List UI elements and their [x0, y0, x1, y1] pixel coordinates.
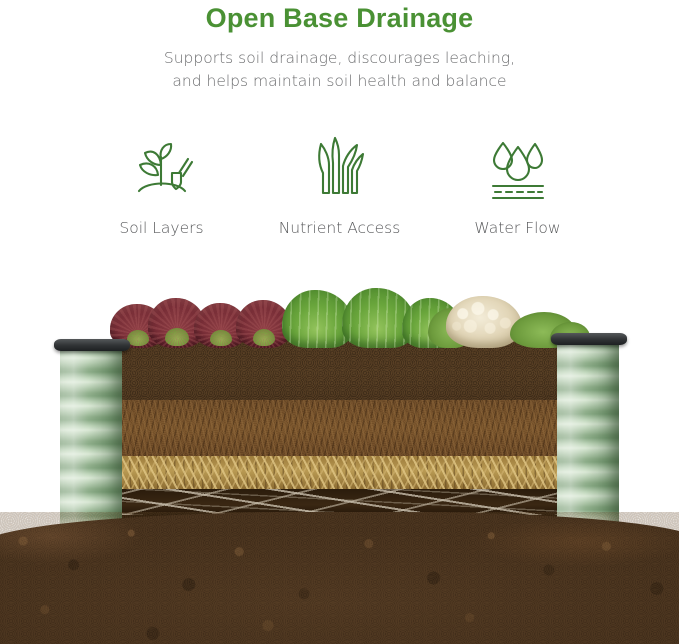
plant-cauliflower — [446, 296, 522, 348]
ground-soil — [0, 512, 679, 644]
soil-layer-compost — [121, 400, 561, 456]
plant-row — [110, 286, 580, 348]
feature-label: Nutrient Access — [251, 217, 429, 239]
product-scene — [0, 280, 679, 644]
subtitle-line-1: Supports soil drainage, discourages leac… — [0, 47, 679, 70]
feature-list: Soil Layers Nutrient Access — [0, 133, 679, 239]
soil-layer-topsoil — [121, 340, 561, 400]
sprout-shovel-icon — [73, 133, 251, 203]
bed-rail-cap-left — [54, 339, 130, 351]
bed-rail-cap-right — [551, 333, 627, 345]
grass-blades-icon — [251, 133, 429, 203]
subtitle-line-2: and helps maintain soil health and balan… — [0, 70, 679, 93]
feature-label: Water Flow — [429, 217, 607, 239]
feature-soil-layers: Soil Layers — [73, 133, 251, 239]
water-droplets-icon — [429, 133, 607, 203]
page-subtitle: Supports soil drainage, discourages leac… — [0, 34, 679, 93]
feature-nutrient-access: Nutrient Access — [251, 133, 429, 239]
soil-layer-straw — [121, 456, 561, 489]
page-title: Open Base Drainage — [0, 0, 679, 34]
feature-label: Soil Layers — [73, 217, 251, 239]
feature-water-flow: Water Flow — [429, 133, 607, 239]
header-block: Open Base Drainage Supports soil drainag… — [0, 0, 679, 93]
product-feature-page: Open Base Drainage Supports soil drainag… — [0, 0, 679, 644]
